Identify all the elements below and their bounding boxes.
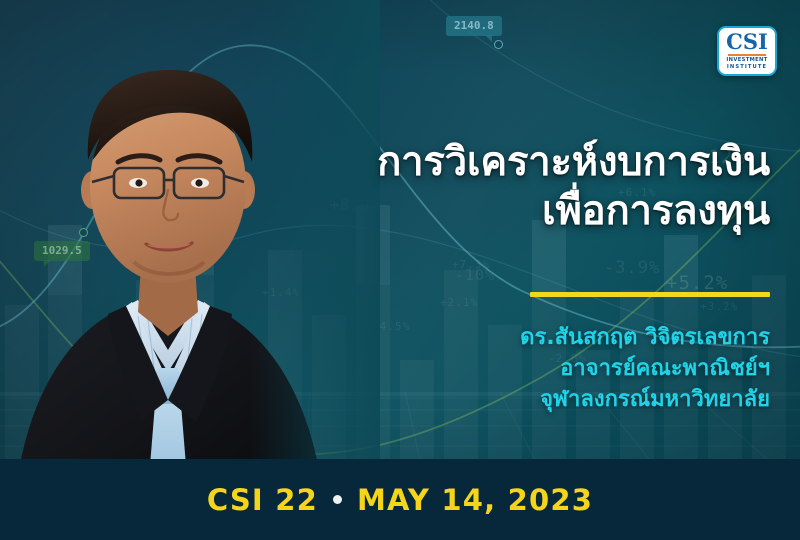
yellow-divider-rule bbox=[530, 292, 770, 297]
speaker-name: ดร.สันสกฤต วิจิตรเลขการ bbox=[330, 322, 770, 353]
footer-banner-text: CSI 22 MAY 14, 2023 bbox=[207, 483, 593, 517]
speaker-block: ดร.สันสกฤต วิจิตรเลขการ อาจารย์คณะพาณิชย… bbox=[330, 322, 770, 416]
bullet-separator-icon bbox=[333, 495, 342, 504]
title-line-1: การวิเคราะห์งบการเงิน bbox=[377, 139, 770, 185]
page-title: การวิเคราะห์งบการเงิน เพื่อการลงทุน bbox=[330, 138, 770, 236]
event-date: MAY 14, 2023 bbox=[357, 483, 593, 517]
speaker-role: อาจารย์คณะพาณิชย์ฯ bbox=[330, 353, 770, 384]
event-promo-banner: +12% +5.2% -3.9% -10% +8.9% +2.1% -4.5% … bbox=[0, 0, 800, 540]
title-line-2: เพื่อการลงทุน bbox=[330, 187, 770, 236]
speaker-organization: จุฬาลงกรณ์มหาวิทยาลัย bbox=[330, 384, 770, 415]
course-code: CSI 22 bbox=[207, 483, 318, 517]
footer-banner: CSI 22 MAY 14, 2023 bbox=[0, 459, 800, 540]
